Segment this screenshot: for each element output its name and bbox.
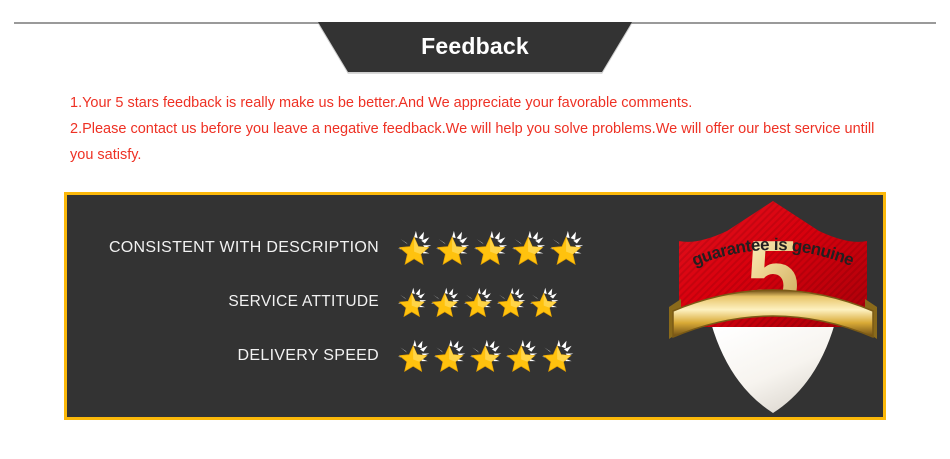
star-sparkle-icon (473, 230, 509, 266)
guarantee-badge: 5 guarantee is genuine (667, 195, 879, 417)
feedback-note-2: 2.Please contact us before you leave a n… (70, 116, 900, 168)
page-title: Feedback (421, 35, 529, 60)
header-banner-area: Feedback (0, 0, 950, 86)
shield-badge-icon: 5 guarantee is genuine (667, 195, 879, 417)
star-sparkle-icon (433, 339, 467, 373)
rating-label-service-attitude: SERVICE ATTITUDE (67, 293, 397, 311)
star-sparkle-icon (549, 230, 585, 266)
star-sparkle-icon (505, 339, 539, 373)
feedback-note-1: 1.Your 5 stars feedback is really make u… (70, 90, 900, 116)
star-sparkle-icon (496, 287, 527, 318)
feedback-page: Feedback 1.Your 5 stars feedback is real… (0, 0, 950, 459)
rating-row: SERVICE ATTITUDE (67, 275, 647, 329)
star-sparkle-icon (541, 339, 575, 373)
ratings-list: CONSISTENT WITH DESCRIPTION (67, 221, 647, 383)
feedback-banner: Feedback (318, 22, 632, 72)
feedback-notes: 1.Your 5 stars feedback is really make u… (70, 90, 900, 168)
rating-stars-service-attitude (397, 287, 560, 318)
rating-label-delivery-speed: DELIVERY SPEED (67, 347, 397, 365)
star-sparkle-icon (529, 287, 560, 318)
rating-label-consistent-with-description: CONSISTENT WITH DESCRIPTION (67, 239, 397, 257)
header-rule-right (630, 22, 936, 24)
star-sparkle-icon (469, 339, 503, 373)
star-sparkle-icon (397, 339, 431, 373)
rating-row: DELIVERY SPEED (67, 329, 647, 383)
shield-tip (711, 323, 835, 413)
star-sparkle-icon (397, 230, 433, 266)
header-rule-left (14, 22, 320, 24)
ratings-panel: CONSISTENT WITH DESCRIPTION (64, 192, 886, 420)
rating-stars-consistent-with-description (397, 230, 585, 266)
rating-stars-delivery-speed (397, 339, 575, 373)
star-sparkle-icon (397, 287, 428, 318)
star-sparkle-icon (511, 230, 547, 266)
star-sparkle-icon (435, 230, 471, 266)
star-sparkle-icon (430, 287, 461, 318)
star-sparkle-icon (463, 287, 494, 318)
rating-row: CONSISTENT WITH DESCRIPTION (67, 221, 647, 275)
